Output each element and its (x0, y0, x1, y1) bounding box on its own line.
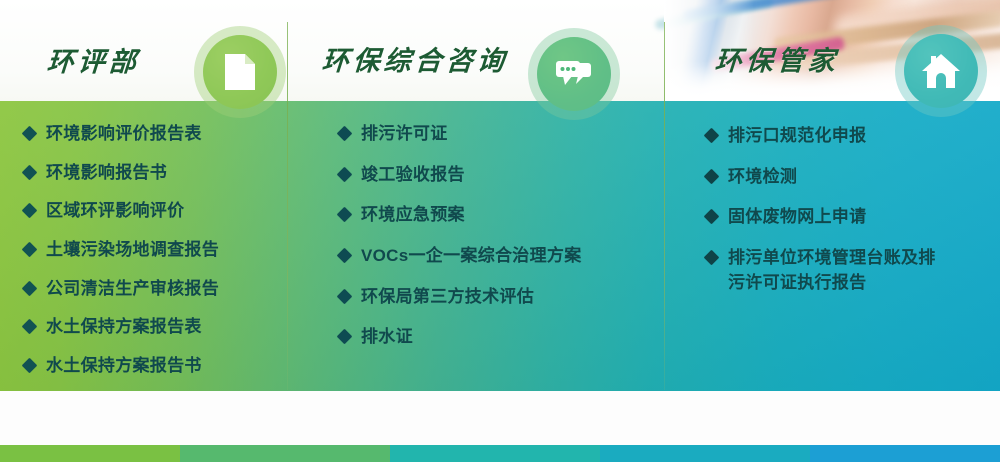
bottom-color-bar (0, 445, 1000, 462)
segment-green-teal (180, 445, 390, 462)
list-item[interactable]: 环境检测 (706, 167, 1000, 190)
diamond-bullet-icon (22, 319, 38, 335)
segment-green (0, 445, 180, 462)
list-item[interactable]: 固体废物网上申请 (706, 207, 1000, 230)
diamond-bullet-icon (337, 248, 353, 264)
service-list-huanbao-zixun: 排污许可证 竣工验收报告 环境应急预案 VOCs一企一案综合治理方案 环保局第三… (287, 124, 716, 368)
list-item[interactable]: 竣工验收报告 (339, 165, 716, 188)
list-item-label: 土壤污染场地调查报告 (46, 238, 219, 263)
diamond-bullet-icon (22, 242, 38, 258)
diamond-bullet-icon (704, 209, 720, 225)
list-item-label: 排污许可证 (361, 122, 448, 147)
diamond-bullet-icon (337, 207, 353, 223)
list-item-label: VOCs一企一案综合治理方案 (361, 244, 582, 269)
list-item-label: 水土保持方案报告书 (46, 354, 202, 379)
diamond-bullet-icon (22, 358, 38, 374)
bottom-white-gap (0, 391, 1000, 445)
list-item-label: 排污口规范化申报 (728, 124, 866, 149)
segment-blue (810, 445, 1000, 462)
diamond-bullet-icon (704, 168, 720, 184)
list-item[interactable]: 环境影响评价报告表 (24, 124, 311, 147)
document-icon-badge[interactable] (203, 35, 277, 109)
column-huanpingbu: 环评部 环境影响评价报告表 环境影响报告书 区域环评影响评价 (0, 0, 287, 391)
list-item[interactable]: 水土保持方案报告表 (24, 317, 311, 340)
list-item[interactable]: 排污口规范化申报 (706, 126, 1000, 149)
list-item[interactable]: 水土保持方案报告书 (24, 356, 311, 379)
list-item[interactable]: VOCs一企一案综合治理方案 (339, 246, 716, 269)
diamond-bullet-icon (22, 164, 38, 180)
list-item[interactable]: 区域环评影响评价 (24, 201, 311, 224)
document-icon (223, 52, 257, 92)
diamond-bullet-icon (22, 280, 38, 296)
list-item-label: 排水证 (361, 325, 413, 350)
segment-cyan (600, 445, 810, 462)
diamond-bullet-icon (337, 166, 353, 182)
list-item-label: 环境检测 (728, 165, 797, 190)
diamond-bullet-icon (22, 203, 38, 219)
column-title: 环评部 (46, 40, 142, 79)
diamond-bullet-icon (337, 288, 353, 304)
column-huanbao-zixun: 环保综合咨询 排污许可证 竣工验收报告 (287, 0, 664, 391)
list-item-label: 环境影响报告书 (46, 161, 167, 186)
house-icon-badge[interactable] (904, 34, 978, 108)
column-huanbao-guanjia: 环保管家 排污口规范化申报 环境检测 固体废物网上申请 (664, 0, 1000, 391)
service-list-huanbao-guanjia: 排污口规范化申报 环境检测 固体废物网上申请 排污单位环境管理台账及排污许可证执… (664, 126, 1000, 313)
chat-bubbles-icon-badge[interactable] (537, 37, 611, 111)
column-title: 环保综合咨询 (321, 39, 510, 78)
diamond-bullet-icon (337, 329, 353, 345)
list-item-label: 竣工验收报告 (361, 163, 465, 188)
service-list-huanpingbu: 环境影响评价报告表 环境影响报告书 区域环评影响评价 土壤污染场地调查报告 公司… (0, 124, 311, 394)
list-item[interactable]: 环保局第三方技术评估 (339, 287, 716, 310)
list-item-label: 排污单位环境管理台账及排污许可证执行报告 (728, 246, 943, 295)
diamond-bullet-icon (704, 250, 720, 266)
list-item-label: 公司清洁生产审核报告 (46, 277, 219, 302)
list-item[interactable]: 土壤污染场地调查报告 (24, 240, 311, 263)
list-item-label: 区域环评影响评价 (46, 199, 184, 224)
list-item[interactable]: 排污许可证 (339, 124, 716, 147)
diamond-bullet-icon (22, 126, 38, 142)
list-item-label: 环境应急预案 (361, 203, 465, 228)
list-item[interactable]: 环境影响报告书 (24, 163, 311, 186)
list-item-label: 环境影响评价报告表 (46, 122, 202, 147)
list-item[interactable]: 环境应急预案 (339, 205, 716, 228)
segment-teal (390, 445, 600, 462)
poster-root: 环评部 环境影响评价报告表 环境影响报告书 区域环评影响评价 (0, 0, 1000, 462)
house-icon (921, 52, 961, 90)
diamond-bullet-icon (704, 128, 720, 144)
diamond-bullet-icon (337, 126, 353, 142)
list-item[interactable]: 公司清洁生产审核报告 (24, 279, 311, 302)
list-item-label: 水土保持方案报告表 (46, 315, 202, 340)
chat-bubbles-icon (554, 57, 594, 91)
list-item-label: 固体废物网上申请 (728, 205, 866, 230)
list-item-label: 环保局第三方技术评估 (361, 285, 534, 310)
column-title: 环保管家 (714, 39, 841, 78)
list-item[interactable]: 排水证 (339, 327, 716, 350)
list-item[interactable]: 排污单位环境管理台账及排污许可证执行报告 (706, 248, 1000, 295)
